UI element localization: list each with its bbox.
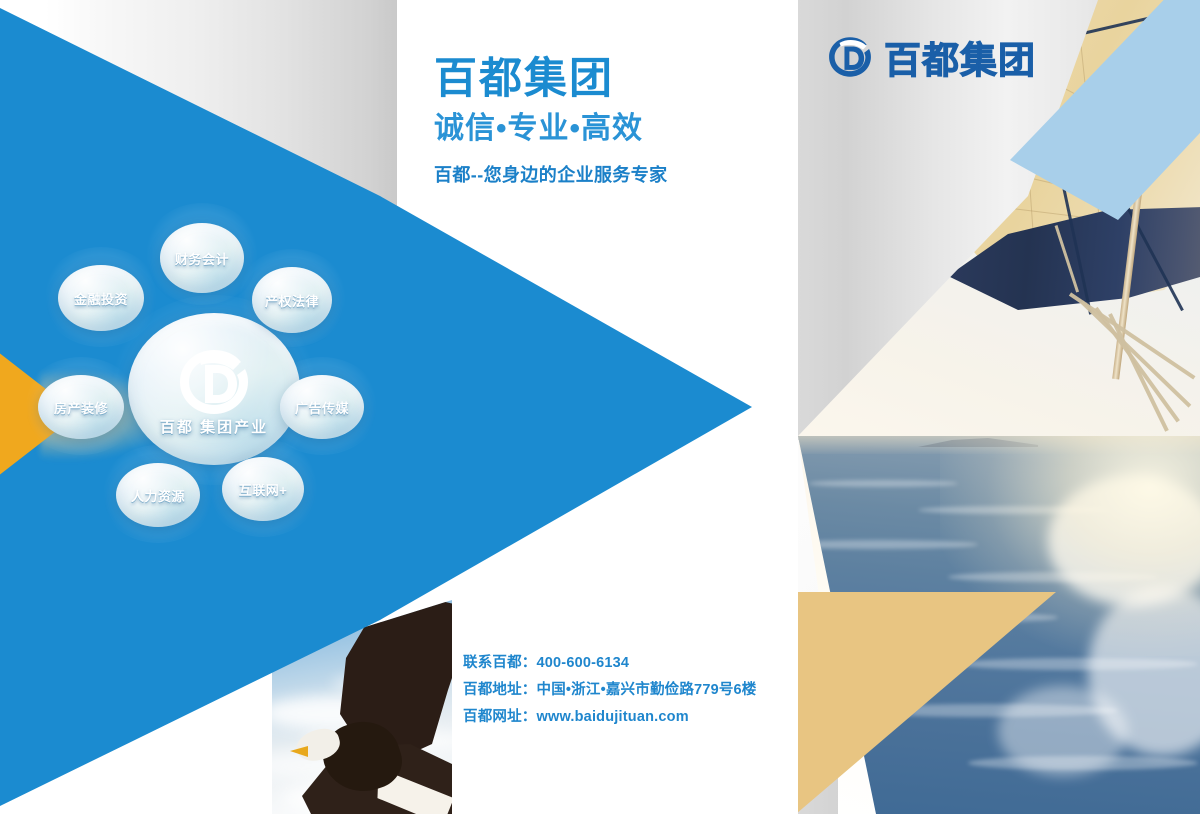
contact-website[interactable]: 百都网址：www.baidujituan.com <box>463 704 757 731</box>
bubble-renliziyuan[interactable]: 人力资源 <box>116 463 200 527</box>
bubble-caiwukuaiji[interactable]: 财务会计 <box>160 223 244 293</box>
industry-bubble-diagram: 百都 集团产业 财务会计 产权法律 广告传媒 互联网+ 人力资源 房产装修 金融… <box>30 215 410 555</box>
page-title: 百都集团 <box>434 56 774 102</box>
bubble-label: 产权法律 <box>265 291 319 310</box>
tagline: 百都--您身边的企业服务专家 <box>434 161 774 187</box>
bubble-label: 财务会计 <box>175 249 229 268</box>
brochure-cover: 百都 集团产业 财务会计 产权法律 广告传媒 互联网+ 人力资源 房产装修 金融… <box>0 0 1200 814</box>
bubble-jinrongtouzi[interactable]: 金融投资 <box>58 265 144 331</box>
center-bubble-label: 百都 集团产业 <box>128 416 300 437</box>
contact-phone: 联系百都：400-600-6134 <box>463 650 757 677</box>
bubble-label: 人力资源 <box>131 486 185 505</box>
wave <box>808 480 958 487</box>
right-panel: 百都集团 <box>798 0 1200 814</box>
contact-address: 百都地址：中国•浙江•嘉兴市勤俭路779号6楼 <box>463 677 757 704</box>
bubble-label: 金融投资 <box>74 289 128 308</box>
bubble-fangchanzhuangxiu[interactable]: 房产装修 <box>38 375 124 439</box>
baidu-d-monogram-icon <box>175 347 253 417</box>
slogan: 诚信•专业•高效 <box>434 112 774 147</box>
bubble-hulianwang-plus[interactable]: 互联网+ <box>222 457 304 521</box>
bubble-label: 广告传媒 <box>295 398 349 417</box>
company-logo[interactable]: 百都集团 <box>826 30 1036 84</box>
headline-block: 百都集团 诚信•专业•高效 百都--您身边的企业服务专家 <box>434 56 774 187</box>
wake-foam <box>998 686 1128 776</box>
left-panel: 百都 集团产业 财务会计 产权法律 广告传媒 互联网+ 人力资源 房产装修 金融… <box>0 0 798 814</box>
company-logo-text: 百都集团 <box>884 30 1036 84</box>
bubble-label: 房产装修 <box>54 398 108 417</box>
baidu-d-monogram-icon <box>826 33 874 81</box>
bubble-chanquanfalv[interactable]: 产权法律 <box>252 267 332 333</box>
bubble-label: 互联网+ <box>239 480 288 499</box>
center-bubble[interactable]: 百都 集团产业 <box>128 313 300 465</box>
contact-block: 联系百都：400-600-6134 百都地址：中国•浙江•嘉兴市勤俭路779号6… <box>463 650 757 731</box>
bubble-guanggaochuanmei[interactable]: 广告传媒 <box>280 375 364 439</box>
